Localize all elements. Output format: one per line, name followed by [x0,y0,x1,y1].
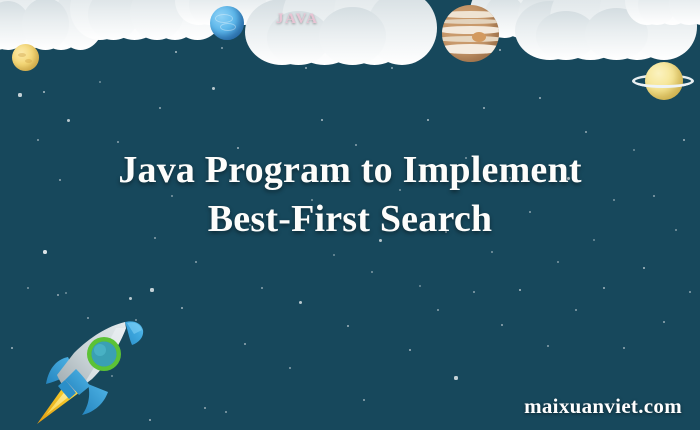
planet-saturn-icon [632,60,694,104]
star-dot [663,321,665,323]
title-line-2: Best-First Search [0,195,700,244]
star-dot [27,287,29,289]
star-dot [333,254,335,256]
site-watermark: maixuanviet.com [524,394,682,419]
star-dot [519,289,522,292]
star-dot [195,261,197,263]
planet-jupiter-icon [442,5,499,62]
star-dot [557,261,559,263]
title-line-1: Java Program to Implement [0,146,700,195]
star-dot [67,119,70,122]
star-dot [159,107,161,109]
star-dot [225,411,227,413]
planet-blue-icon [210,6,244,40]
star-dot [289,367,291,369]
star-dot [43,250,47,254]
star-dot [129,297,132,300]
star-dot [689,291,691,293]
page-title: Java Program to Implement Best-First Sea… [0,146,700,244]
star-dot [437,309,439,311]
star-dot [299,301,302,304]
star-dot [623,347,625,349]
star-dot [371,271,373,273]
star-dot [585,131,587,133]
star-dot [643,267,646,270]
star-dot [305,67,307,69]
star-dot [501,324,503,326]
star-dot [603,287,606,290]
star-dot [244,343,246,345]
star-dot [37,139,39,141]
star-dot [539,97,542,100]
star-dot [491,251,493,253]
poster-canvas: JAVA Java Program to Implement Best-Firs… [0,0,700,430]
star-dot [321,119,324,122]
star-dot [454,376,457,379]
star-dot [261,287,263,289]
star-dot [18,93,21,96]
star-dot [65,292,67,294]
star-dot [57,294,60,297]
star-dot [499,49,502,52]
star-dot [409,349,412,352]
star-dot [347,325,350,328]
star-dot [547,345,549,347]
star-dot [391,67,393,69]
star-dot [212,87,215,90]
star-dot [221,47,223,49]
rocket-icon [24,302,152,430]
star-dot [427,119,430,122]
saturn-ring-front [632,74,694,88]
star-dot [11,347,14,350]
star-dot [99,81,101,83]
star-dot [181,307,184,310]
star-dot [117,141,119,143]
cloud-shape [625,0,700,25]
star-dot [473,291,475,293]
star-dot [363,399,365,401]
java-brand-label: JAVA [276,11,319,28]
star-dot [419,285,421,287]
cloud-shape [245,0,430,65]
star-dot [683,139,686,142]
star-dot [175,51,178,54]
star-dot [483,107,486,110]
star-dot [204,407,206,409]
star-dot [43,91,46,94]
star-dot [575,309,577,311]
star-dot [150,288,153,291]
planet-moon-icon [12,44,39,71]
